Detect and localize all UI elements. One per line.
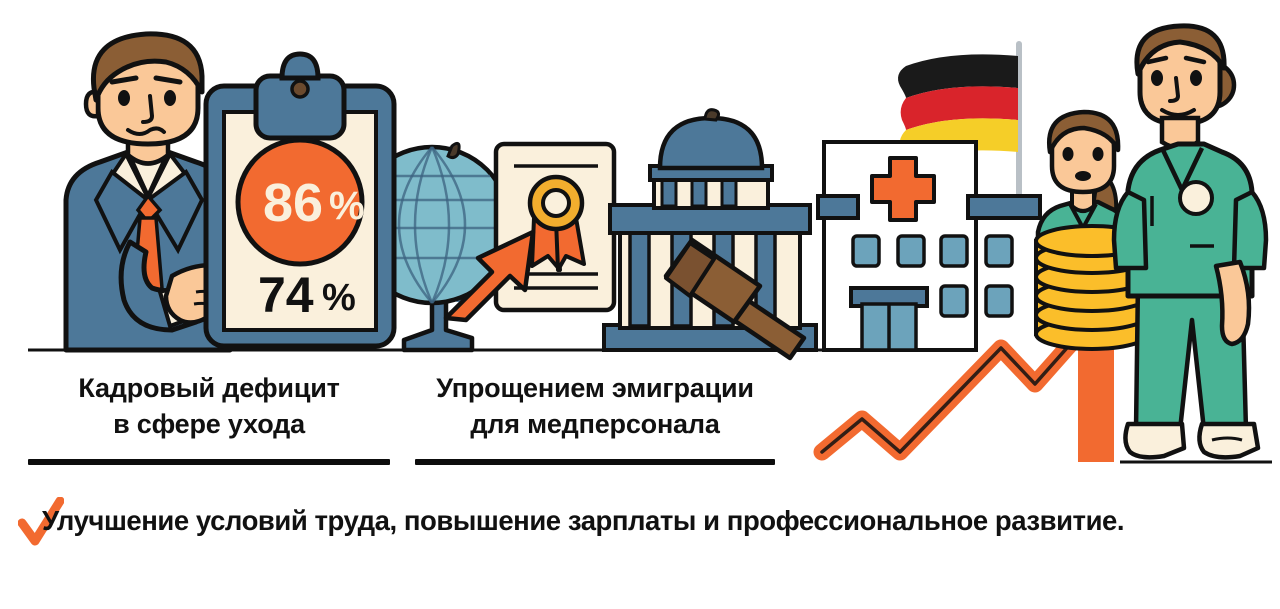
bottom-statement: Улучшение условий труда, повышение зарпл… bbox=[42, 505, 1267, 537]
stat-74-unit: % bbox=[322, 277, 356, 319]
award-rosette-icon bbox=[530, 177, 584, 270]
stat-74-value: 74 bbox=[258, 267, 314, 323]
caption-right-line2: для медперсонала bbox=[415, 407, 775, 443]
stat-86-value: 86 bbox=[263, 173, 323, 233]
government-building-icon bbox=[604, 110, 816, 350]
infographic-canvas: 86 % 74 % Кадровый дефицит в сфере ухода… bbox=[0, 0, 1280, 609]
caption-right-underline bbox=[415, 459, 775, 465]
caption-left-line1: Кадровый дефицит bbox=[28, 371, 390, 407]
caption-left-underline bbox=[28, 459, 390, 465]
caption-right: Упрощением эмиграции для медперсонала bbox=[415, 371, 775, 443]
caption-left: Кадровый дефицит в сфере ухода bbox=[28, 371, 390, 443]
hospital-building-icon bbox=[818, 142, 1040, 350]
certificate-icon bbox=[496, 144, 614, 310]
nurse-main-icon bbox=[1114, 26, 1272, 462]
stat-86-unit: % bbox=[329, 184, 365, 228]
caption-left-line2: в сфере ухода bbox=[28, 407, 390, 443]
clipboard-icon: 86 % 74 % bbox=[206, 54, 394, 346]
caption-right-line1: Упрощением эмиграции bbox=[415, 371, 775, 407]
